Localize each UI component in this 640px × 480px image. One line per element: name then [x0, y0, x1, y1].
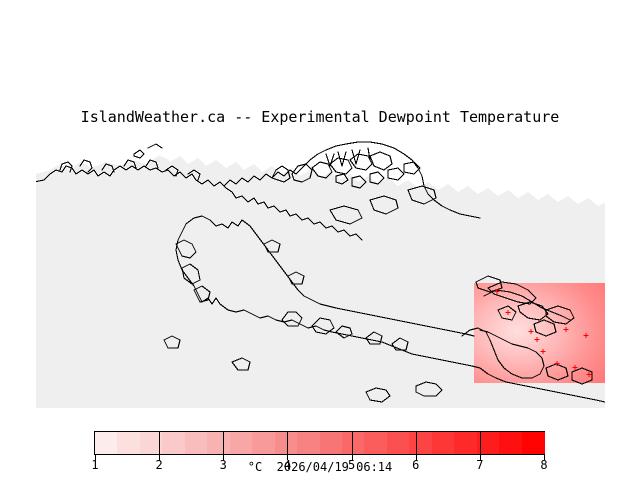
colorbar-segment [117, 432, 140, 454]
page-title: IslandWeather.ca -- Experimental Dewpoin… [0, 108, 640, 126]
colorbar-segment [387, 432, 410, 454]
colorbar-segment [185, 432, 208, 454]
colorbar-tick [223, 432, 224, 454]
colorbar-segment [364, 432, 387, 454]
colorbar-tick [287, 432, 288, 454]
colorbar-segment [162, 432, 185, 454]
colorbar-segment [320, 432, 343, 454]
colorbar-segment [454, 432, 477, 454]
colorbar-tick [352, 432, 353, 454]
colorbar-segment [207, 432, 230, 454]
coastline-map [36, 140, 605, 408]
colorbar-segment [275, 432, 298, 454]
colorbar-tick [480, 432, 481, 454]
colorbar-segment [499, 432, 522, 454]
colorbar[interactable]: 12345678 [94, 431, 545, 455]
colorbar-gradient [94, 431, 545, 455]
land-polygons [36, 140, 605, 206]
colorbar-segment [409, 432, 432, 454]
colorbar-tick [159, 432, 160, 454]
colorbar-segment [230, 432, 253, 454]
map-panel[interactable] [36, 140, 605, 408]
colorbar-segment [342, 432, 365, 454]
colorbar-tick [416, 432, 417, 454]
colorbar-segment [95, 432, 118, 454]
colorbar-segment [522, 432, 545, 454]
colorbar-segment [297, 432, 320, 454]
colorbar-segment [252, 432, 275, 454]
colorbar-caption: °C 2026/04/19 06:14 [0, 460, 640, 474]
colorbar-segment [432, 432, 455, 454]
